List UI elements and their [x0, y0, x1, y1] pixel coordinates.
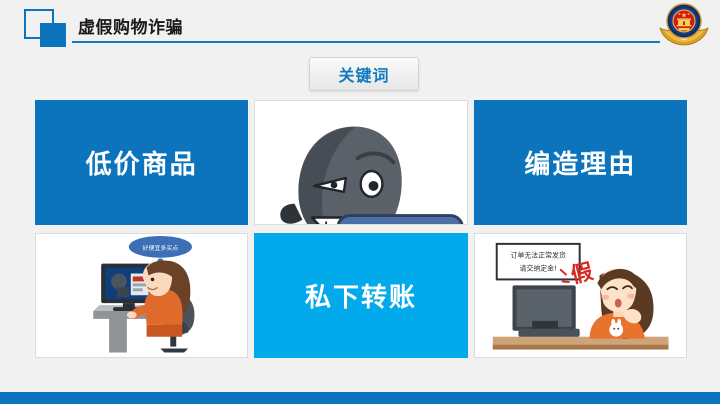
police-badge-icon: [658, 1, 710, 49]
footer-accent-bar: [0, 392, 720, 404]
logo-filled-square: [40, 23, 66, 47]
svg-text:好便宜多买点: 好便宜多买点: [143, 244, 179, 252]
svg-text:请交纳定金!: 请交纳定金!: [519, 264, 556, 273]
double-square-logo-icon: [24, 9, 70, 45]
tile-fabricate-reason[interactable]: 编造理由: [474, 100, 687, 225]
keyword-button[interactable]: 关键词: [309, 57, 419, 91]
svg-text:订单无法正常发货: 订单无法正常发货: [510, 251, 565, 260]
scammer-laptop-illustration: XXXX商品 立即购买 第一步： 请扫描添加客服: [255, 101, 466, 225]
woman-at-desktop-illustration: 好便宜多买点: [36, 234, 247, 357]
tile-low-price-goods[interactable]: 低价商品: [35, 100, 248, 225]
tile-scammer-laptop-illustration[interactable]: XXXX商品 立即购买 第一步： 请扫描添加客服: [254, 100, 467, 225]
keyword-grid: 低价商品: [35, 100, 687, 358]
page-header: 虚假购物诈骗: [0, 0, 720, 50]
tile-fake-order-notice-illustration[interactable]: 订单无法正常发货 请交纳定金! 假: [474, 233, 687, 358]
tile-woman-at-desktop-illustration[interactable]: 好便宜多买点: [35, 233, 248, 358]
page-title: 虚假购物诈骗: [78, 13, 183, 38]
tile-private-transfer[interactable]: 私下转账: [254, 233, 467, 358]
fake-order-notice-illustration: 订单无法正常发货 请交纳定金! 假: [475, 234, 686, 357]
header-divider: [72, 41, 660, 43]
